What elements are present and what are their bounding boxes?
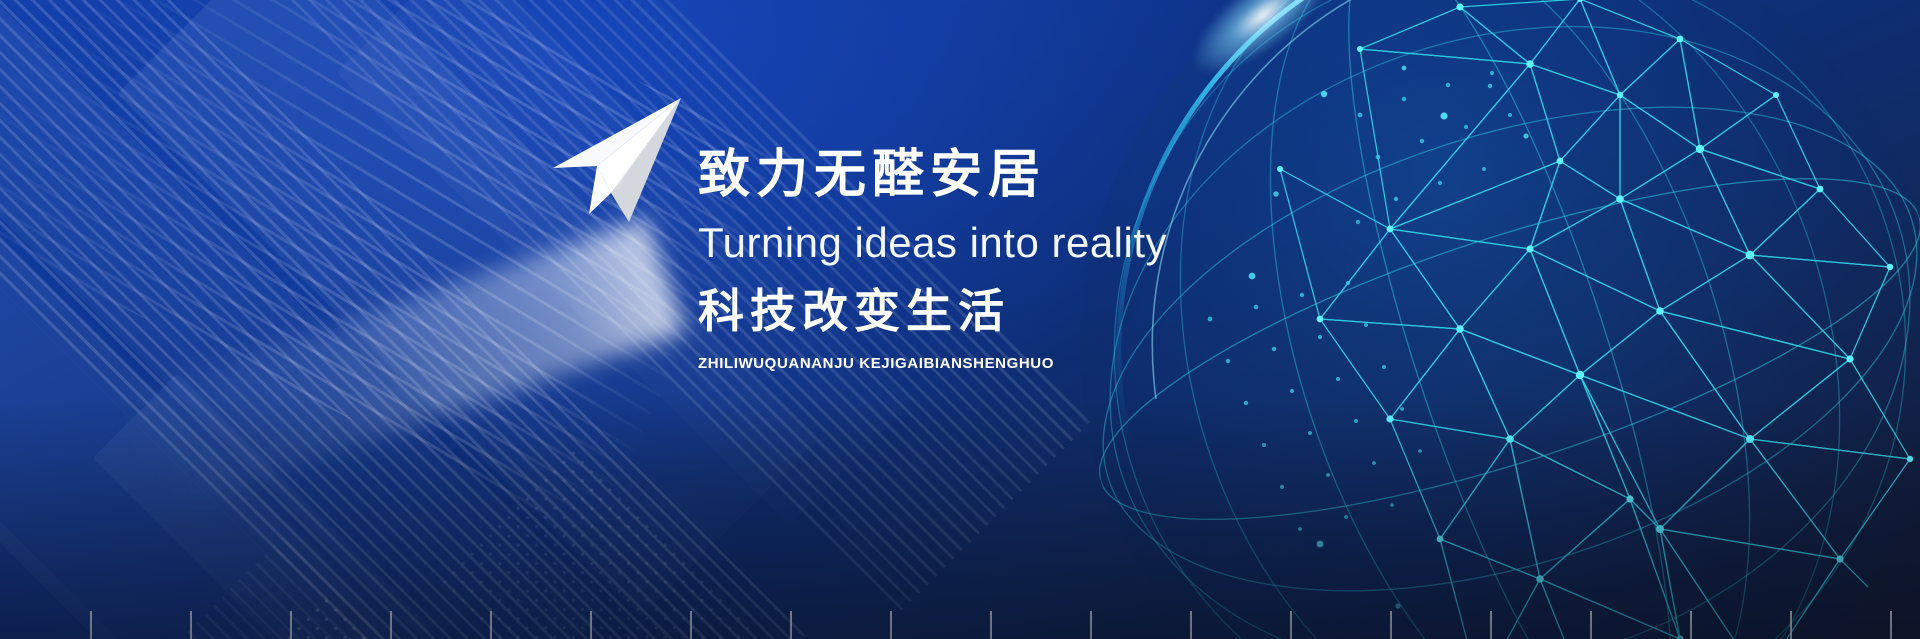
ruler-tick	[1390, 611, 1392, 639]
ruler-tick	[390, 611, 392, 639]
ruler-tick	[1890, 611, 1892, 639]
ruler-tick	[890, 611, 892, 639]
ruler-tick	[690, 611, 692, 639]
ruler-tick	[790, 611, 792, 639]
ruler-tick	[1690, 611, 1692, 639]
ruler-tick	[1090, 611, 1092, 639]
subheadline-chinese: 科技改变生活	[698, 286, 1318, 337]
ruler-tick	[290, 611, 292, 639]
hero-banner: 致力无醛安居 Turning ideas into reality 科技改变生活…	[0, 0, 1920, 639]
paper-plane-icon	[553, 96, 683, 224]
ruler-tick	[1290, 611, 1292, 639]
ruler-tick	[1590, 611, 1592, 639]
ruler-tick	[90, 611, 92, 639]
tagline-english: Turning ideas into reality	[698, 220, 1318, 266]
ruler-tick	[1790, 611, 1792, 639]
pinyin-caption: ZHILIWUQUANANJU KEJIGAIBIANSHENGHUO	[698, 355, 1318, 372]
ruler-tick	[590, 611, 592, 639]
ruler-tick	[190, 611, 192, 639]
bottom-ruler-ticks	[0, 605, 1920, 639]
ruler-tick	[990, 611, 992, 639]
ruler-tick	[1490, 611, 1492, 639]
banner-copy: 致力无醛安居 Turning ideas into reality 科技改变生活…	[698, 146, 1318, 372]
headline-chinese: 致力无醛安居	[698, 146, 1318, 204]
ruler-tick	[1190, 611, 1192, 639]
ruler-tick	[490, 611, 492, 639]
